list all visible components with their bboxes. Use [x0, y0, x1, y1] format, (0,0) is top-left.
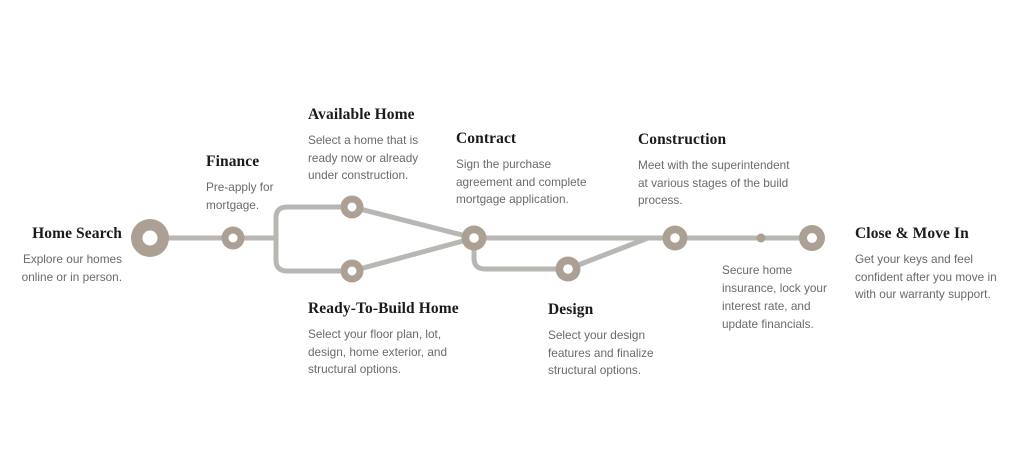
node-construction-center [670, 233, 680, 243]
step-title-home-search: Home Search [10, 225, 122, 244]
step-label-available-home: Available Home Select a home that is rea… [308, 106, 444, 185]
process-flow-diagram: Home Search Explore our homes online or … [0, 0, 1024, 452]
node-financials-dot[interactable] [757, 234, 766, 243]
node-home-search-center [143, 231, 158, 246]
step-title-construction: Construction [638, 131, 790, 150]
connector-available-home-to-contract [352, 207, 474, 238]
step-desc-finance: Pre-apply for mortgage. [206, 179, 311, 215]
connector-design-to-construction [568, 238, 648, 269]
step-label-finance: Finance Pre-apply for mortgage. [206, 153, 311, 214]
node-ready-to-build-home-center [348, 267, 357, 276]
node-contract-center [469, 233, 479, 243]
step-title-finance: Finance [206, 153, 311, 172]
step-label-contract: Contract Sign the purchase agreement and… [456, 130, 596, 209]
node-available-home-center [348, 203, 357, 212]
step-label-construction: Construction Meet with the superintenden… [638, 131, 790, 210]
step-desc-construction: Meet with the superintendent at various … [638, 157, 790, 211]
step-desc-home-search: Explore our homes online or in person. [10, 251, 122, 287]
step-title-ready-to-build-home: Ready-To-Build Home [308, 300, 458, 319]
step-label-close-move-in: Close & Move In Get your keys and feel c… [855, 225, 1007, 304]
step-label-design: Design Select your design features and f… [548, 301, 668, 380]
node-design-center [563, 264, 573, 274]
step-label-financials: Secure home insurance, lock your interes… [722, 262, 832, 334]
node-finance-center [229, 234, 238, 243]
connector-fork-lower [276, 238, 352, 271]
step-title-close-move-in: Close & Move In [855, 225, 1007, 244]
step-desc-design: Select your design features and finalize… [548, 327, 668, 381]
step-desc-available-home: Select a home that is ready now or alrea… [308, 132, 444, 186]
connector-ready-to-build-to-contract [352, 238, 474, 271]
connector-contract-to-design [474, 238, 568, 269]
node-close-move-in-center [807, 233, 817, 243]
step-title-contract: Contract [456, 130, 596, 149]
step-label-home-search: Home Search Explore our homes online or … [10, 225, 122, 286]
step-title-design: Design [548, 301, 668, 320]
step-desc-close-move-in: Get your keys and feel confident after y… [855, 251, 1007, 305]
step-title-available-home: Available Home [308, 106, 444, 125]
step-label-ready-to-build-home: Ready-To-Build Home Select your floor pl… [308, 300, 458, 379]
step-desc-contract: Sign the purchase agreement and complete… [456, 156, 596, 210]
step-desc-financials: Secure home insurance, lock your interes… [722, 262, 832, 334]
step-desc-ready-to-build-home: Select your floor plan, lot, design, hom… [308, 326, 458, 380]
